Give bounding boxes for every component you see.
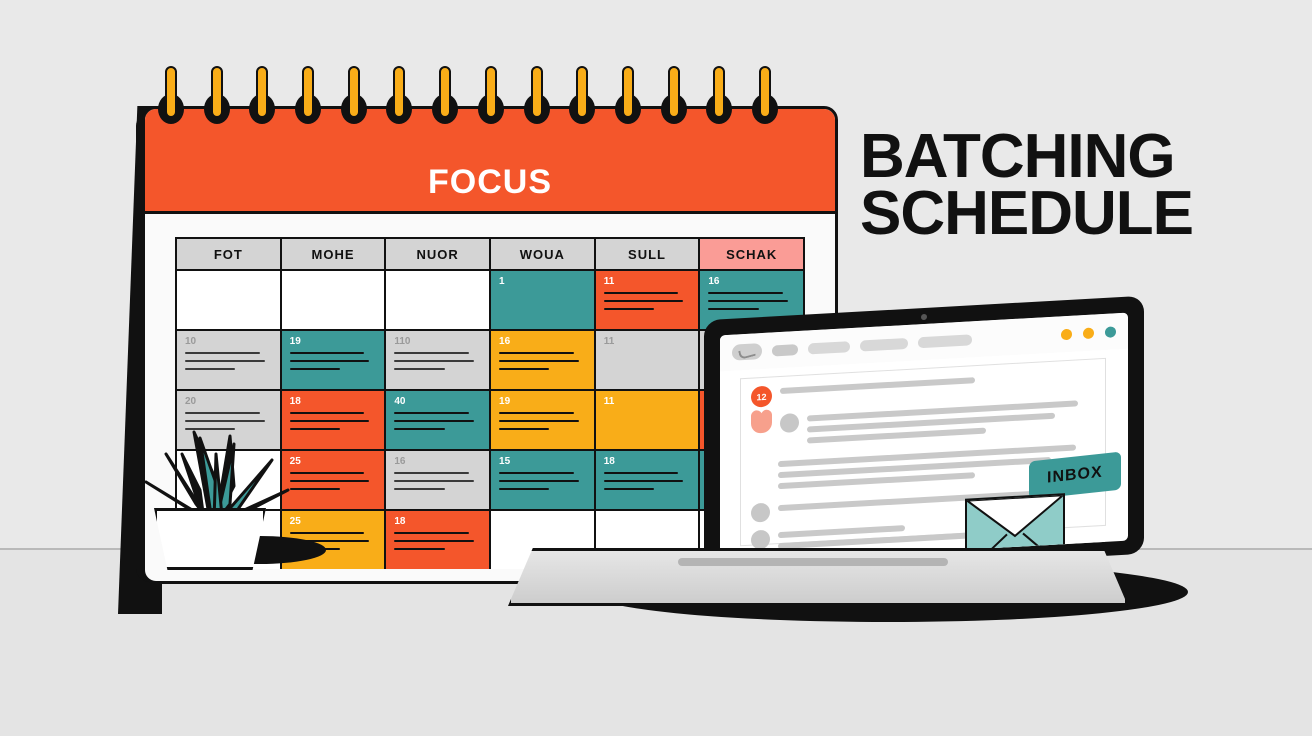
browser-status-dot-3[interactable] <box>1105 326 1116 338</box>
trackpad[interactable] <box>678 558 948 566</box>
event-line <box>394 352 469 354</box>
avatar <box>751 503 770 523</box>
event-lines <box>394 532 481 550</box>
day-number: 18 <box>290 397 377 407</box>
browser-tab-3[interactable] <box>860 337 908 351</box>
browser-tab-1[interactable] <box>772 344 798 356</box>
plant-pot <box>154 508 266 570</box>
calendar-day-cell[interactable] <box>282 271 387 329</box>
spiral-wire <box>211 66 223 118</box>
event-line <box>394 480 474 482</box>
spiral-ring-icon <box>341 64 367 126</box>
spiral-wire <box>256 66 268 118</box>
spiral-ring-icon <box>706 64 732 126</box>
event-line <box>290 532 365 534</box>
spiral-wire <box>348 66 360 118</box>
spiral-ring-icon <box>752 64 778 126</box>
avatar <box>780 413 799 433</box>
event-line <box>290 352 365 354</box>
event-line <box>185 368 235 370</box>
avatar <box>751 530 770 550</box>
calendar-day-cell[interactable]: 19 <box>282 331 387 389</box>
event-line <box>290 472 365 474</box>
calendar-column-header-2: MOHE <box>282 239 387 269</box>
laptop-lid: 12 <box>704 296 1144 579</box>
page-title: BATCHING SCHEDULE <box>860 128 1280 242</box>
day-number: 25 <box>290 457 377 467</box>
laptop: 12 <box>508 300 1168 650</box>
event-line <box>185 360 265 362</box>
spiral-wire <box>576 66 588 118</box>
browser-status-dot-2[interactable] <box>1083 327 1094 339</box>
event-line <box>185 352 260 354</box>
spiral-wire <box>622 66 634 118</box>
calendar-column-header-5: SULL <box>596 239 701 269</box>
heart-reaction-icon <box>751 414 772 433</box>
event-line <box>394 368 444 370</box>
event-line <box>394 548 444 550</box>
calendar-day-cell[interactable]: 40 <box>386 391 491 449</box>
spiral-ring-icon <box>386 64 412 126</box>
day-number: 18 <box>394 517 481 527</box>
spiral-ring-icon <box>432 64 458 126</box>
spiral-ring-icon <box>524 64 550 126</box>
event-line <box>290 420 370 422</box>
laptop-base <box>508 548 1128 606</box>
event-line <box>185 420 265 422</box>
event-line <box>394 420 474 422</box>
event-line <box>290 480 370 482</box>
event-lines <box>394 472 481 490</box>
calendar-column-header-3: NUOR <box>386 239 491 269</box>
browser-tab-2[interactable] <box>808 341 850 354</box>
day-number: 1 <box>499 277 586 287</box>
calendar-day-cell[interactable]: 110 <box>386 331 491 389</box>
calendar-day-cell[interactable]: 18 <box>386 511 491 569</box>
event-line <box>394 540 474 542</box>
spiral-wire <box>759 66 771 118</box>
illustration-scene: BATCHING SCHEDULE FOCUS FOTMOHENUORWOUAS… <box>0 0 1312 736</box>
spiral-wire <box>393 66 405 118</box>
event-line <box>708 292 783 294</box>
browser-tab-4[interactable] <box>918 334 972 348</box>
unread-count-badge: 12 <box>751 385 772 407</box>
calendar-spiral-binding <box>148 64 788 128</box>
event-lines <box>185 352 272 370</box>
calendar-column-header-4: WOUA <box>491 239 596 269</box>
day-number: 16 <box>394 457 481 467</box>
spiral-ring-icon <box>478 64 504 126</box>
calendar-column-header-6: SCHAK <box>700 239 803 269</box>
calendar-day-cell[interactable] <box>386 271 491 329</box>
calendar-day-cell[interactable]: 10 <box>177 331 282 389</box>
event-line <box>290 368 340 370</box>
title-line-2: SCHEDULE <box>860 185 1280 242</box>
day-number: 110 <box>394 337 481 347</box>
webcam-icon <box>921 314 927 320</box>
event-line <box>394 360 474 362</box>
spiral-wire <box>531 66 543 118</box>
event-lines <box>290 412 377 430</box>
event-line <box>394 472 469 474</box>
spiral-wire <box>668 66 680 118</box>
day-number: 16 <box>708 277 795 287</box>
spiral-ring-icon <box>295 64 321 126</box>
event-line <box>394 428 444 430</box>
laptop-screen: 12 <box>720 313 1128 564</box>
event-lines <box>394 352 481 370</box>
day-number: 10 <box>185 337 272 347</box>
event-lines <box>290 472 377 490</box>
calendar-day-cell[interactable]: 16 <box>386 451 491 509</box>
event-line <box>290 360 370 362</box>
back-arrow-icon[interactable] <box>732 343 762 361</box>
spiral-wire <box>713 66 725 118</box>
browser-status-dot-1[interactable] <box>1061 328 1072 340</box>
day-number: 19 <box>290 337 377 347</box>
event-lines <box>394 412 481 430</box>
day-number: 11 <box>604 277 691 287</box>
event-line <box>604 292 679 294</box>
spiral-wire <box>439 66 451 118</box>
mail-app-panel: 12 <box>740 358 1106 546</box>
spiral-wire <box>302 66 314 118</box>
event-line <box>394 532 469 534</box>
day-number: 20 <box>185 397 272 407</box>
calendar-column-headers: FOTMOHENUORWOUASULLSCHAK <box>177 239 803 271</box>
calendar-header-label: FOCUS <box>145 163 835 202</box>
browser-status-dots <box>1061 326 1116 340</box>
line <box>780 377 975 394</box>
event-lines <box>290 352 377 370</box>
spiral-wire <box>165 66 177 118</box>
day-number: 25 <box>290 517 377 527</box>
day-number: 40 <box>394 397 481 407</box>
event-line <box>185 412 260 414</box>
spiral-ring-icon <box>249 64 275 126</box>
spiral-ring-icon <box>204 64 230 126</box>
spiral-wire <box>485 66 497 118</box>
calendar-column-header-1: FOT <box>177 239 282 269</box>
spiral-ring-icon <box>569 64 595 126</box>
spiral-ring-icon <box>615 64 641 126</box>
spiral-ring-icon <box>661 64 687 126</box>
event-line <box>394 412 469 414</box>
event-line <box>394 488 444 490</box>
potted-plant <box>138 424 298 570</box>
spiral-ring-icon <box>158 64 184 126</box>
calendar-day-cell[interactable] <box>177 271 282 329</box>
event-line <box>290 412 365 414</box>
